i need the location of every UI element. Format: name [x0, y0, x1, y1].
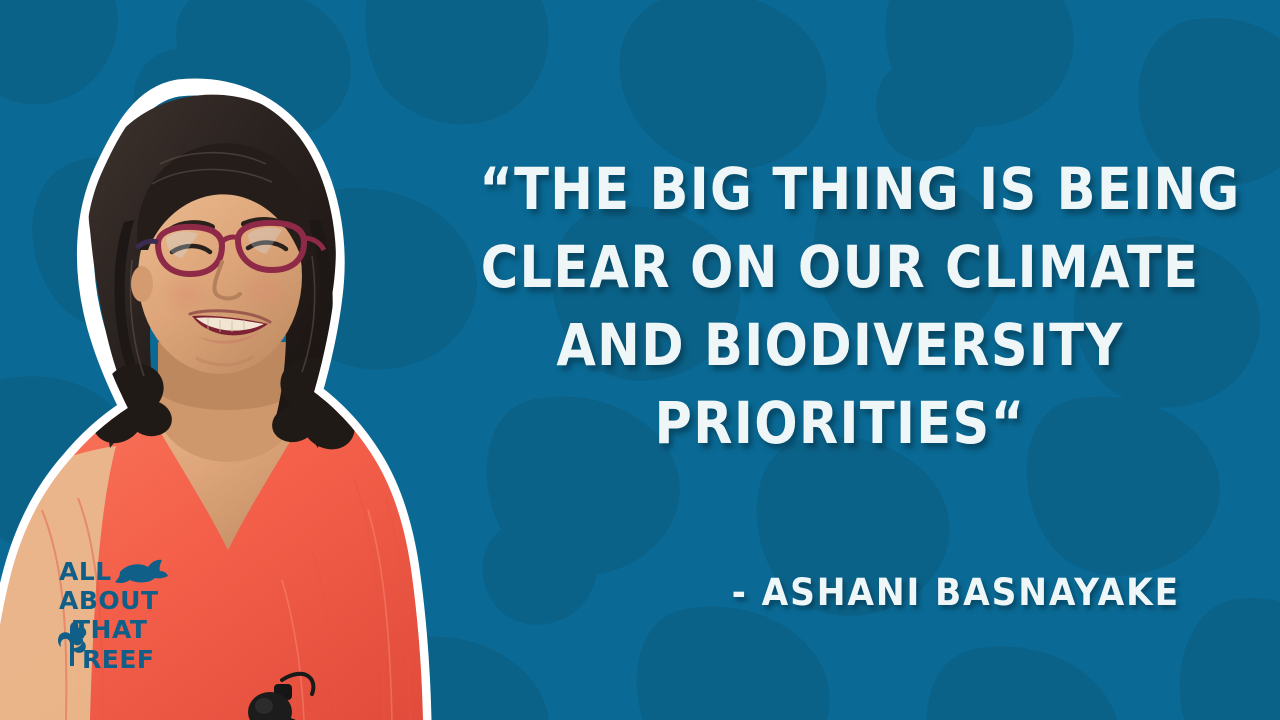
quote-line-2: CLEAR ON OUR CLIMATE [479, 228, 1201, 306]
brand-logo[interactable]: ALL ABOUT THAT REEF [58, 556, 168, 674]
speaker-attribution: - ASHANI BASNAYAKE [483, 570, 1181, 616]
logo-line-2: ABOUT [59, 586, 159, 615]
quote-card: ALL ABOUT THAT REEF “THE BIG THING IS BE… [0, 0, 1280, 720]
quote-text: “THE BIG THING IS BEING CLEAR ON OUR CLI… [430, 150, 1250, 462]
fish-icon [115, 560, 168, 583]
quote-line-1: “THE BIG THING IS BEING [479, 150, 1201, 228]
logo-line-1: ALL [59, 557, 112, 586]
quote-line-3: AND BIODIVERSITY [479, 306, 1201, 384]
logo-line-4: REEF [82, 645, 154, 674]
quote-line-4: PRIORITIES“ [479, 384, 1201, 462]
